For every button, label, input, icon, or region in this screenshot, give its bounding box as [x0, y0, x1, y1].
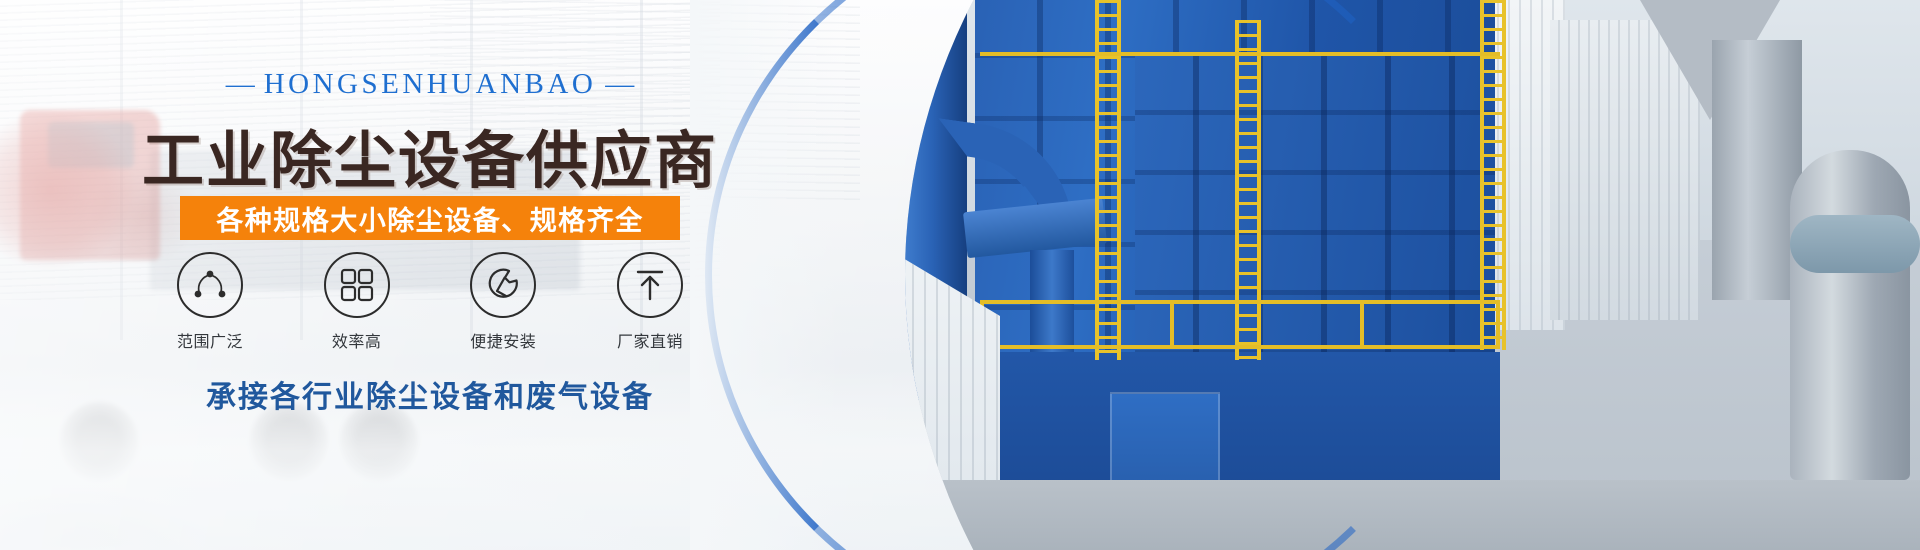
handrail [980, 300, 1500, 304]
feature-label: 范围广泛 [155, 328, 265, 352]
highlight-banner: 各种规格大小除尘设备、规格齐全 [180, 196, 680, 240]
equipment-photo [780, 0, 1920, 550]
steel-silo [1790, 150, 1910, 480]
feature-label: 厂家直销 [595, 328, 705, 352]
arrow-up-bar-icon [617, 252, 683, 318]
banner-content: —HONGSENHUANBAO— 工业除尘设备供应商 各种规格大小除尘设备、规格… [0, 0, 860, 550]
handrail-post [1496, 300, 1500, 348]
eyebrow-text: HONGSENHUANBAO [264, 68, 597, 100]
hero-banner: —HONGSENHUANBAO— 工业除尘设备供应商 各种规格大小除尘设备、规格… [0, 0, 1920, 550]
feature-label: 效率高 [302, 328, 412, 352]
handrail-post [1170, 300, 1174, 348]
feature-label: 便捷安装 [448, 328, 558, 352]
feature-item-installation: 便捷安装 [448, 252, 558, 352]
grid-squares-icon [324, 252, 390, 318]
handrail [980, 52, 1500, 56]
brand-eyebrow: —HONGSENHUANBAO— [0, 68, 860, 101]
baghouse-dust-collector-secondary [1135, 55, 1495, 355]
feature-item-efficiency: 效率高 [302, 252, 412, 352]
access-ladder [1235, 20, 1261, 360]
feature-list: 范围广泛 效率高 [155, 252, 705, 352]
banner-tagline: 承接各行业除尘设备和废气设备 [0, 372, 860, 416]
handrail-post [1360, 300, 1364, 348]
highlight-banner-text: 各种规格大小除尘设备、规格齐全 [216, 199, 644, 238]
wrench-icon [470, 252, 536, 318]
feature-item-scope: 范围广泛 [155, 252, 265, 352]
page-title: 工业除尘设备供应商 [0, 110, 860, 200]
steel-silo-rear [1712, 40, 1802, 300]
eyebrow-dash-right: — [596, 68, 643, 100]
share-nodes-icon [177, 252, 243, 318]
horizontal-pipe [1790, 215, 1920, 273]
feature-item-direct-sales: 厂家直销 [595, 252, 705, 352]
eyebrow-dash-left: — [217, 68, 264, 100]
handrail [980, 345, 1500, 349]
